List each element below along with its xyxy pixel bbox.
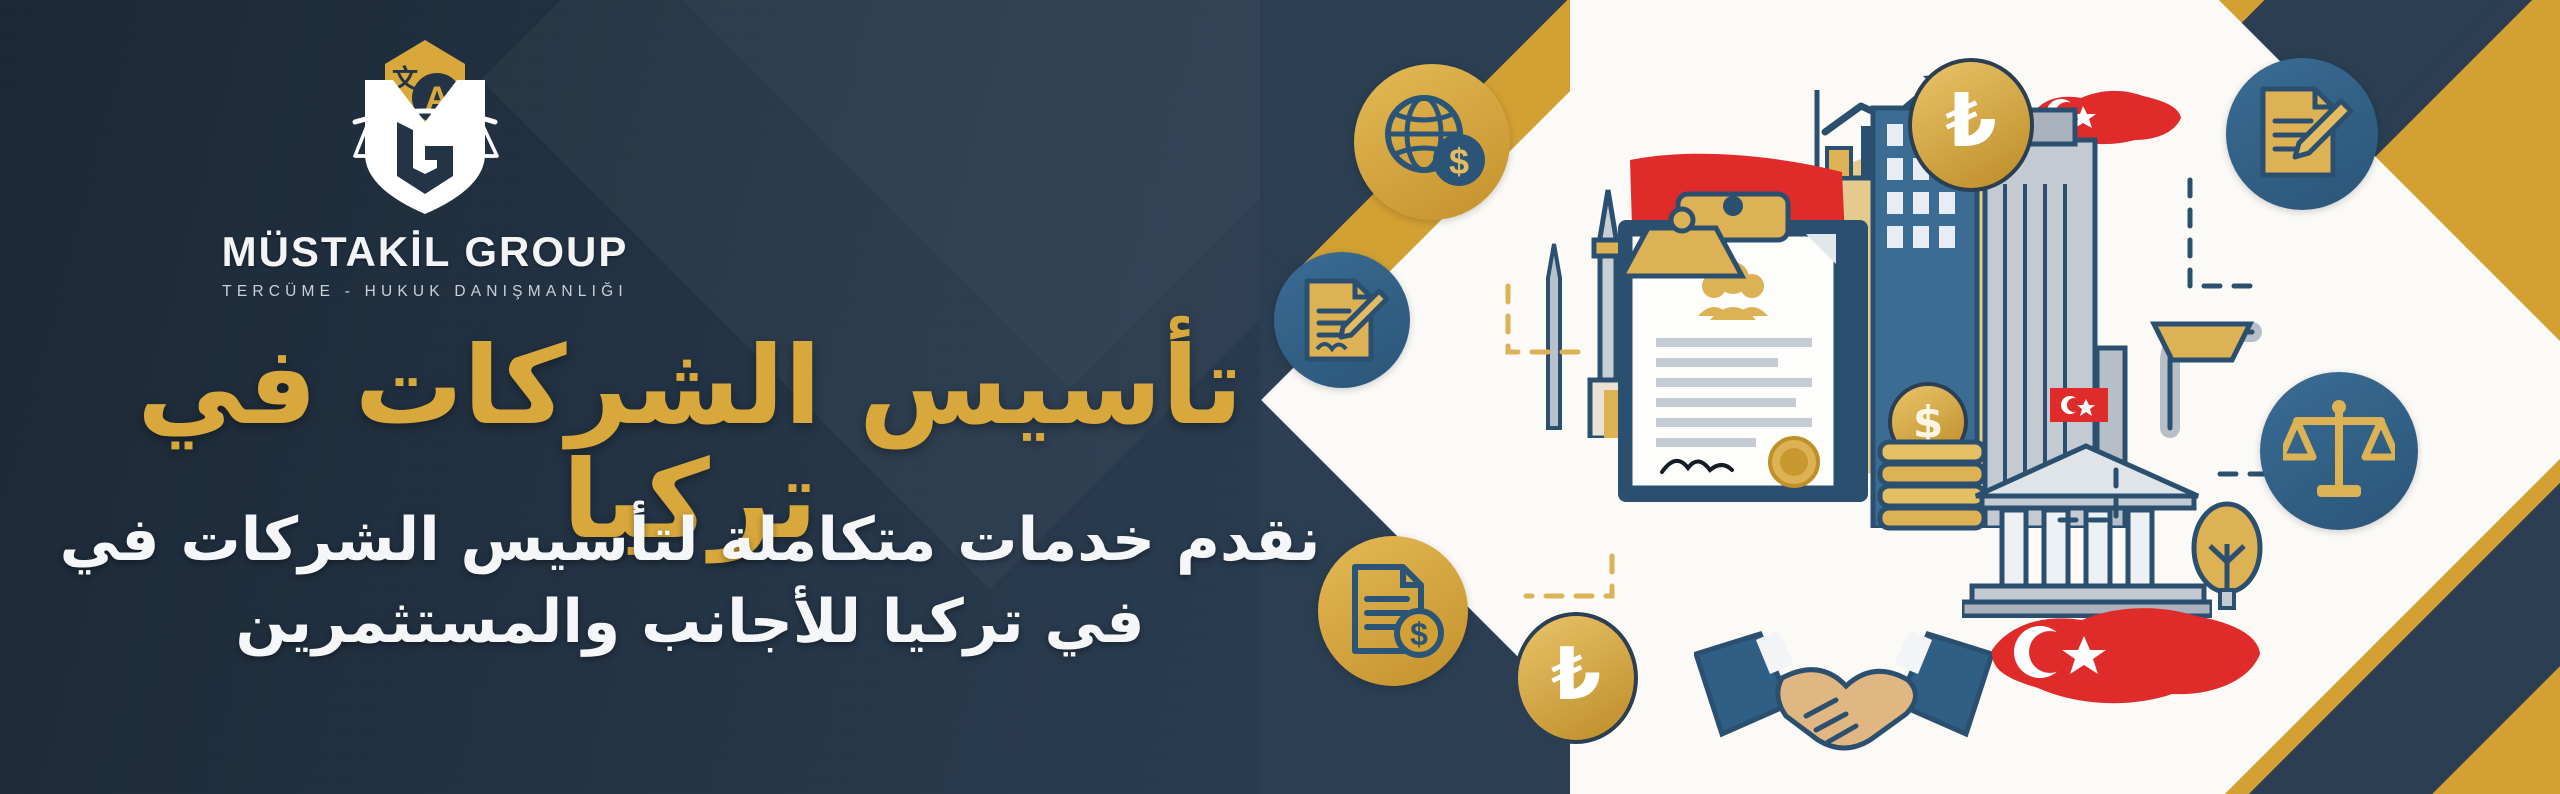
logo-block: 文 A MÜSTAKİL GROUP TERCÜME - HUKUK DANIŞ…	[0, 26, 1140, 301]
lira-coin-bottom: ₺	[1514, 612, 1638, 744]
banner-root: $	[0, 0, 2560, 794]
scales-of-justice-icon	[2260, 372, 2418, 530]
svg-text:$: $	[1449, 141, 1469, 182]
logo-tagline: TERCÜME - HUKUK DANIŞMANLIĞI	[222, 283, 628, 301]
mustakil-logo-mark: 文 A	[325, 26, 525, 226]
lira-coin-top: ₺	[1908, 58, 2034, 192]
page-subtitle: نقدم خدمات متكاملة لتأسيس الشركات في في …	[0, 500, 1380, 663]
subtitle-line-2: في تركيا للأجانب والمستثمرين	[0, 582, 1380, 664]
illustration-artwork: $	[1260, 0, 2560, 794]
subtitle-line-1: نقدم خدمات متكاملة لتأسيس الشركات في	[0, 500, 1380, 582]
logo-company-name: MÜSTAKİL GROUP	[222, 228, 629, 276]
illustration-panel: $	[1260, 0, 2560, 794]
text-column: 文 A MÜSTAKİL GROUP TERCÜME - HUKUK DANIŞ…	[0, 0, 1430, 794]
document-pen-icon-right	[2226, 58, 2378, 210]
